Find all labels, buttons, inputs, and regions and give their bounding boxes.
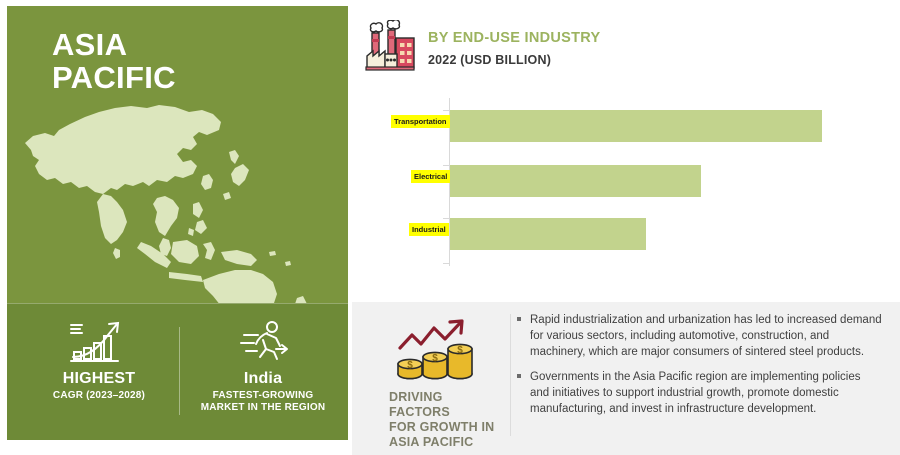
region-panel: ASIA PACIFIC <box>7 6 348 440</box>
bar-chart-plot: Transportation Electrical Industrial <box>352 95 900 275</box>
stat-cagr-value: HIGHEST <box>23 370 175 388</box>
region-stats-strip: HIGHEST CAGR (2023–2028) <box>7 303 348 440</box>
driving-factors-label-line1: DRIVING FACTORS <box>389 390 497 420</box>
chart-header: BY END-USE INDUSTRY 2022 (USD BILLION) <box>364 20 600 76</box>
bar-electrical[interactable] <box>450 165 701 197</box>
svg-text:$: $ <box>432 353 438 364</box>
chart-panel: BY END-USE INDUSTRY 2022 (USD BILLION) T… <box>352 0 900 302</box>
bullet-text: Rapid industrialization and urbanization… <box>530 314 882 358</box>
list-item: Governments in the Asia Pacific region a… <box>510 369 882 417</box>
stats-divider-top <box>7 303 348 304</box>
stats-vertical-divider <box>179 327 180 415</box>
coins-growth-arrow-icon: $ $ $ <box>372 314 497 386</box>
region-title: ASIA PACIFIC <box>52 28 176 94</box>
running-person-arrow-icon <box>187 317 339 363</box>
driving-factors-label: DRIVING FACTORS FOR GROWTH IN ASIA PACIF… <box>372 390 497 450</box>
region-title-line1: ASIA <box>52 28 176 61</box>
stat-fastest-market: India FASTEST-GROWING MARKET IN THE REGI… <box>187 317 339 414</box>
driving-factors-label-line2: FOR GROWTH IN <box>389 420 497 435</box>
stat-market-sub: FASTEST-GROWING MARKET IN THE REGION <box>187 390 339 414</box>
bar-label-industrial: Industrial <box>409 223 449 236</box>
stat-market-sub-line2: MARKET IN THE REGION <box>187 402 339 414</box>
chart-title: BY END-USE INDUSTRY <box>428 30 600 46</box>
axis-tick <box>443 218 449 219</box>
stat-market-value: India <box>187 370 339 388</box>
driving-factors-bullet-list: Rapid industrialization and urbanization… <box>510 312 882 426</box>
bullet-dot-icon <box>517 317 521 321</box>
asia-pacific-map <box>7 102 348 307</box>
stat-cagr-sub: CAGR (2023–2028) <box>23 390 175 402</box>
axis-tick <box>443 263 449 264</box>
bar-transportation[interactable] <box>450 110 822 142</box>
svg-text:$: $ <box>407 360 413 371</box>
bar-label-transportation: Transportation <box>391 115 450 128</box>
factory-icon <box>364 20 416 76</box>
chart-subtitle: 2022 (USD BILLION) <box>428 53 600 67</box>
bullet-dot-icon <box>517 374 521 378</box>
driving-factors-label-line3: ASIA PACIFIC <box>389 435 497 450</box>
driving-factors-heading: $ $ $ <box>372 314 497 450</box>
list-item: Rapid industrialization and urbanization… <box>510 312 882 360</box>
stat-market-sub-line1: FASTEST-GROWING <box>187 390 339 402</box>
svg-text:$: $ <box>457 345 463 356</box>
region-title-line2: PACIFIC <box>52 61 176 94</box>
bar-industrial[interactable] <box>450 218 646 250</box>
axis-tick <box>443 165 449 166</box>
bullet-text: Governments in the Asia Pacific region a… <box>530 371 860 415</box>
growth-bar-chart-arrow-icon <box>23 317 175 363</box>
driving-factors-panel: $ $ $ <box>352 302 900 455</box>
stat-cagr: HIGHEST CAGR (2023–2028) <box>23 317 175 402</box>
infographic-canvas: ASIA PACIFIC <box>0 0 900 455</box>
axis-tick <box>443 110 449 111</box>
bar-label-electrical: Electrical <box>411 170 450 183</box>
